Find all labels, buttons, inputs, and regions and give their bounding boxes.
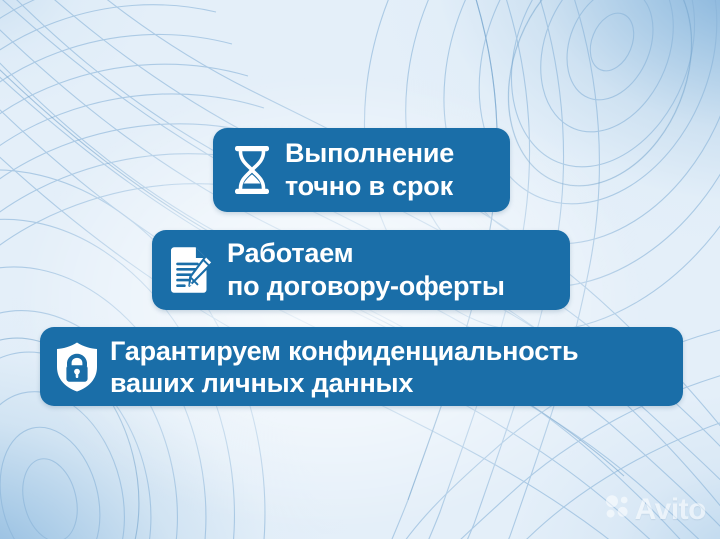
feature-badge-contract: Работаем по договору-оферты — [152, 230, 570, 310]
promo-banner: Выполнение точно в срок — [0, 0, 720, 539]
badge-line: по договору-оферты — [227, 270, 505, 303]
document-pencil-icon — [168, 246, 214, 294]
hourglass-icon — [231, 145, 273, 195]
badge-line: ваших личных данных — [110, 367, 578, 399]
feature-badge-contract-text: Работаем по договору-оферты — [227, 237, 505, 303]
feature-badge-deadline: Выполнение точно в срок — [213, 128, 510, 212]
feature-badge-privacy: Гарантируем конфиденциальность ваших лич… — [40, 327, 683, 406]
feature-badge-deadline-text: Выполнение точно в срок — [285, 137, 454, 203]
shield-lock-icon — [54, 341, 100, 393]
feature-badge-privacy-text: Гарантируем конфиденциальность ваших лич… — [110, 335, 578, 399]
badge-line: Работаем — [227, 237, 505, 270]
badge-line: Выполнение — [285, 137, 454, 170]
badge-line: точно в срок — [285, 170, 454, 203]
badge-line: Гарантируем конфиденциальность — [110, 335, 578, 367]
